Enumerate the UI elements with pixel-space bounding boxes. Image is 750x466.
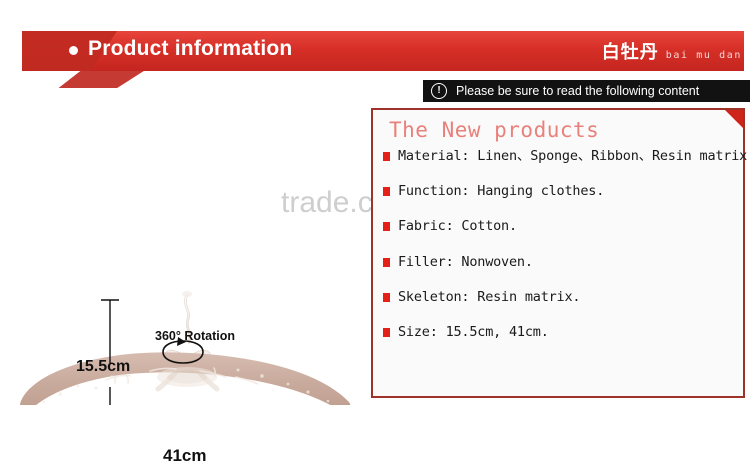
spec-text: Filler: Nonwoven. [398,254,533,270]
square-bullet-icon [383,293,390,302]
corner-triangle-decoration [725,110,743,128]
list-item: Material: Linen、Sponge、Ribbon、Resin matr… [383,148,737,164]
spec-text: Skeleton: Resin matrix. [398,289,580,305]
brand-name-cn: 白牡丹 [602,38,659,64]
exclamation-circle-icon: ! [431,83,447,99]
list-item: Skeleton: Resin matrix. [383,289,737,305]
rotation-label: 360° Rotation [155,329,235,343]
spec-text: Material: Linen、Sponge、Ribbon、Resin matr… [398,148,750,164]
square-bullet-icon [383,258,390,267]
list-item: Fabric: Cotton. [383,218,737,234]
brand-name-pinyin: bai mu dan [666,50,742,61]
panel-title: The New products [389,118,599,142]
square-bullet-icon [383,187,390,196]
square-bullet-icon [383,152,390,161]
notice-text: Please be sure to read the following con… [456,84,699,98]
width-dimension-label: 41cm [163,446,206,466]
hanger-body [20,352,351,405]
list-item: Size: 15.5cm, 41cm. [383,324,737,340]
list-item: Filler: Nonwoven. [383,254,737,270]
height-dimension-label: 15.5cm [76,358,130,376]
spec-text: Fabric: Cotton. [398,218,517,234]
spec-text: Function: Hanging clothes. [398,183,604,199]
page-title: Product information [88,37,292,61]
brand: 白牡丹 bai mu dan [602,38,742,64]
product-information-page: Product information 白牡丹 bai mu dan ! Ple… [0,0,750,427]
hanger-drawing [0,105,371,405]
spec-text: Size: 15.5cm, 41cm. [398,324,549,340]
product-spec-panel: The New products Material: Linen、Sponge、… [371,108,745,398]
product-illustration: 15.5cm 41cm 360° Rotation [0,105,371,405]
notice-bar: ! Please be sure to read the following c… [423,80,750,102]
list-item: Function: Hanging clothes. [383,183,737,199]
spec-list: Material: Linen、Sponge、Ribbon、Resin matr… [383,148,737,359]
square-bullet-icon [383,328,390,337]
dot-icon [69,46,78,55]
square-bullet-icon [383,222,390,231]
